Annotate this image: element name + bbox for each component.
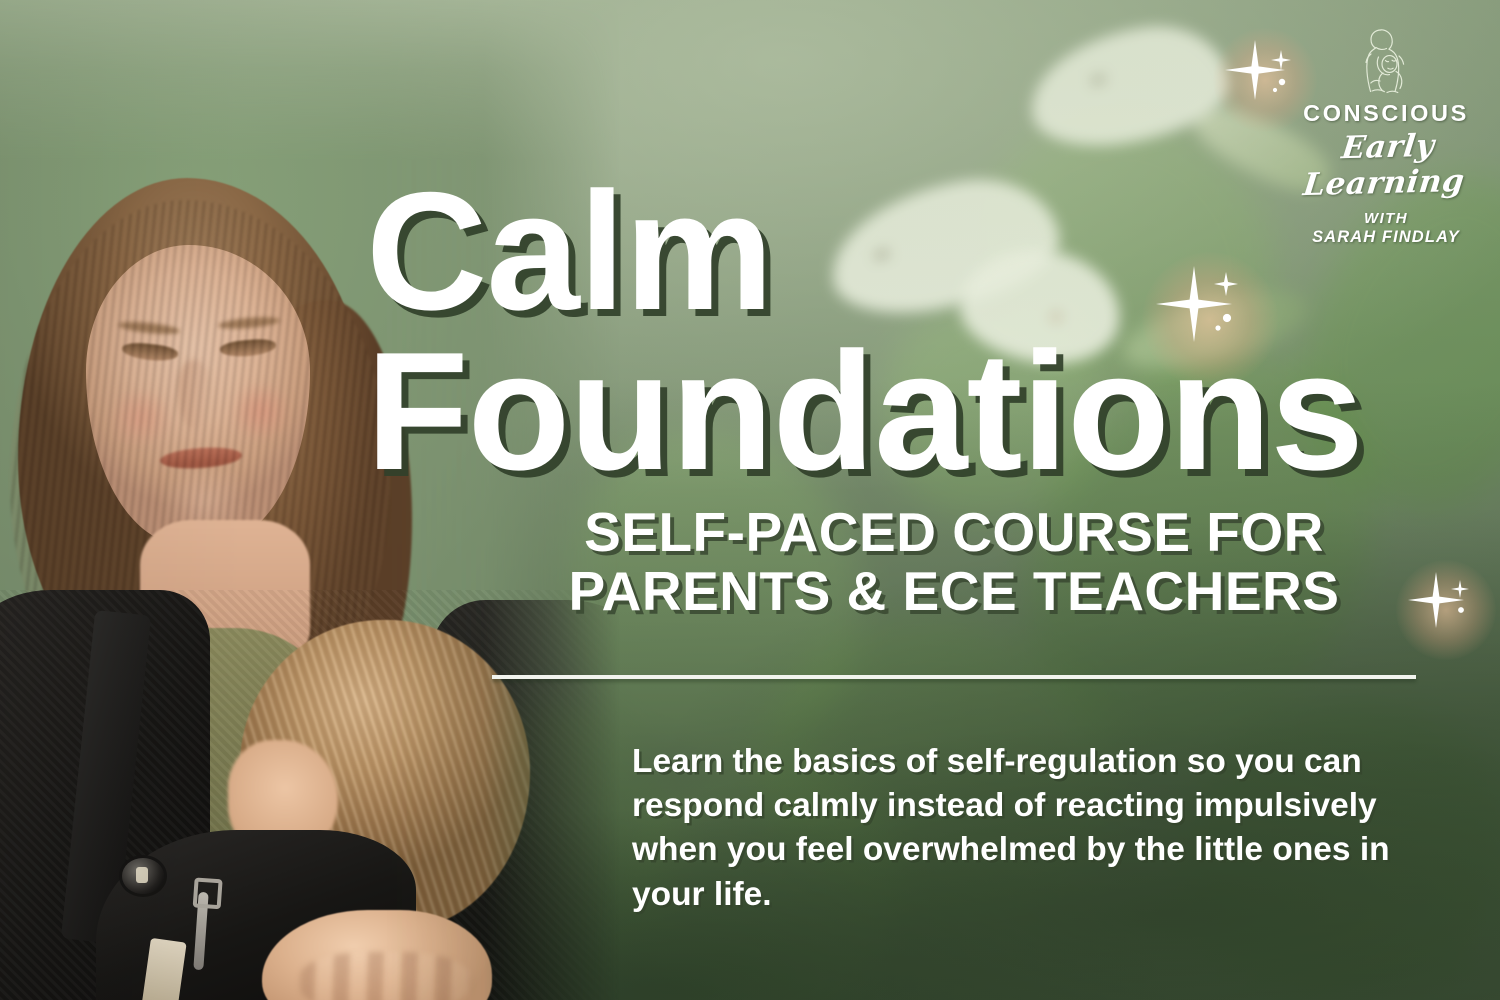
mother-and-child-line-icon	[1354, 24, 1418, 98]
horizontal-rule	[492, 675, 1416, 679]
with-label: WITH	[1288, 210, 1484, 227]
subtitle-line-2: PARENTS & ECE TEACHERS	[492, 562, 1416, 621]
title-line-2: Foundations	[366, 328, 1426, 494]
page-title: Calm Foundations	[366, 168, 1426, 495]
brand-logo: CONSCIOUS Early Learning WITH SARAH FIND…	[1288, 24, 1484, 247]
promo-graphic: Calm Foundations SELF-PACED COURSE FOR P…	[0, 0, 1500, 1000]
brand-name-top: CONSCIOUS	[1288, 100, 1484, 127]
subtitle-line-1: SELF-PACED COURSE FOR	[492, 503, 1416, 562]
course-subtitle: SELF-PACED COURSE FOR PARENTS & ECE TEAC…	[492, 503, 1416, 622]
presenter-name: SARAH FINDLAY	[1288, 228, 1484, 247]
brand-name-script: Early Learning	[1284, 126, 1489, 203]
course-description: Learn the basics of self-regulation so y…	[632, 740, 1422, 917]
